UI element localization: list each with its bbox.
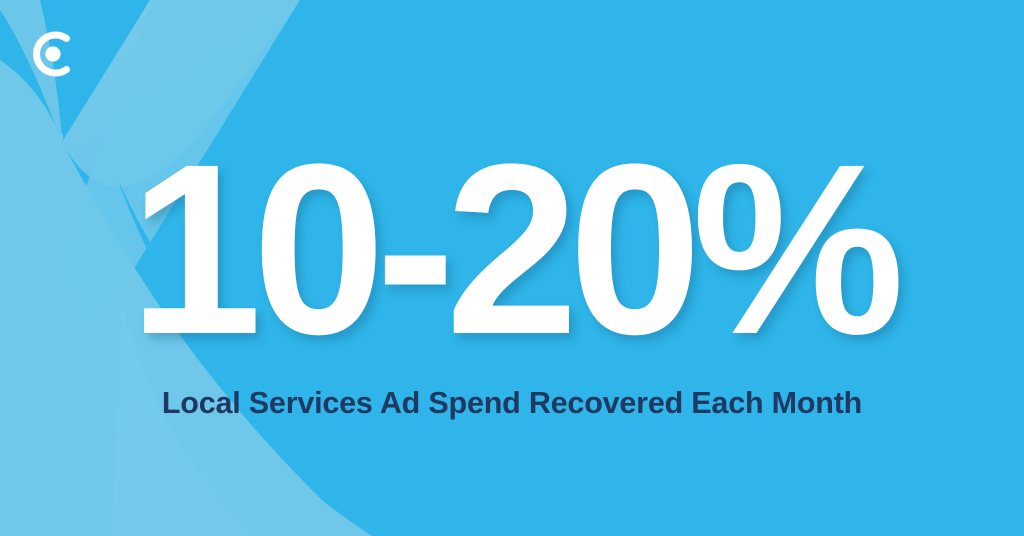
promo-graphic-canvas: 10-20% Local Services Ad Spend Recovered… [0, 0, 1024, 536]
headline-subtitle: Local Services Ad Spend Recovered Each M… [0, 386, 1024, 421]
circle-c-logo-icon [26, 28, 78, 80]
headline-statistic: 10-20% [8, 128, 1017, 371]
